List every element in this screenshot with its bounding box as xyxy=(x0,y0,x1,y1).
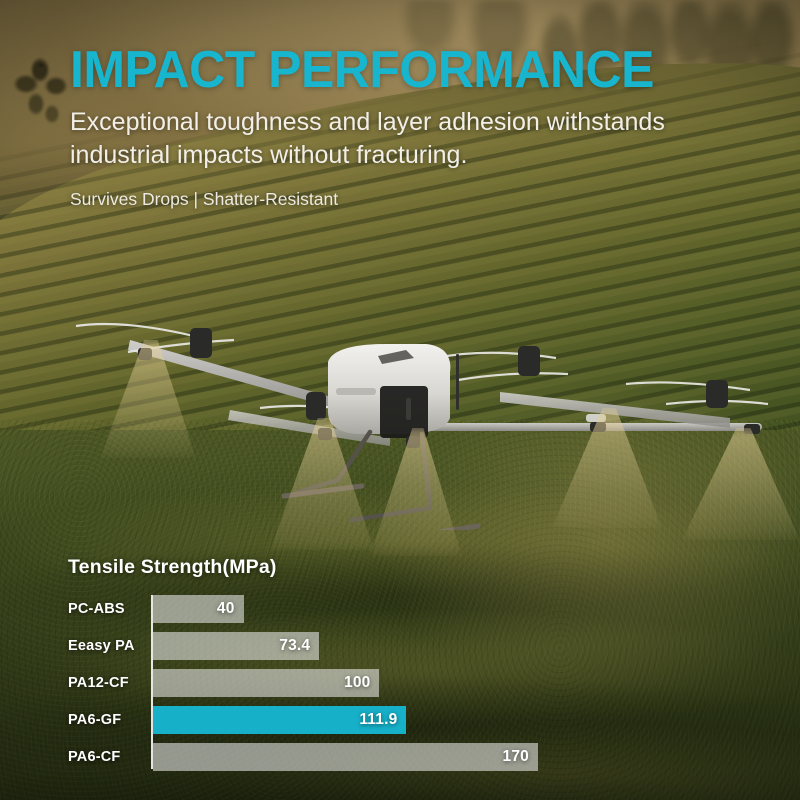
page-tagline: Survives Drops | Shatter-Resistant xyxy=(70,189,720,210)
chart-bar-track: 111.9 xyxy=(153,706,538,734)
chart-bar: 170 xyxy=(153,743,538,771)
chart-bar-track: 73.4 xyxy=(153,632,538,660)
chart-bar-row: PA6-GF111.9 xyxy=(68,706,538,734)
chart-value-label: 40 xyxy=(217,600,244,618)
chart-bar-row: PA12-CF100 xyxy=(68,669,538,697)
page-title: IMPACT PERFORMANCE xyxy=(70,44,694,96)
tensile-strength-chart: Tensile Strength(MPa) PC-ABS40Eeasy PA73… xyxy=(68,556,538,771)
chart-value-label: 73.4 xyxy=(279,637,319,655)
chart-bar: 73.4 xyxy=(153,632,319,660)
chart-bar-row: Eeasy PA73.4 xyxy=(68,632,538,660)
chart-category-label: Eeasy PA xyxy=(68,638,144,654)
chart-bar-highlighted: 111.9 xyxy=(153,706,406,734)
chart-plot-area: PC-ABS40Eeasy PA73.4PA12-CF100PA6-GF111.… xyxy=(68,595,538,771)
chart-bar-row: PC-ABS40 xyxy=(68,595,538,623)
chart-bar-track: 40 xyxy=(153,595,538,623)
chart-category-label: PC-ABS xyxy=(68,601,144,617)
chart-category-label: PA6-CF xyxy=(68,749,144,765)
impact-performance-slide: IMPACT PERFORMANCE Exceptional toughness… xyxy=(0,0,800,800)
chart-title: Tensile Strength(MPa) xyxy=(68,556,538,579)
chart-value-label: 111.9 xyxy=(359,711,406,729)
spray-drone xyxy=(70,300,770,530)
chart-value-label: 100 xyxy=(344,674,379,692)
page-subtitle: Exceptional toughness and layer adhesion… xyxy=(70,106,710,171)
chart-category-label: PA12-CF xyxy=(68,675,144,691)
chart-bar-track: 170 xyxy=(153,743,538,771)
header-block: IMPACT PERFORMANCE Exceptional toughness… xyxy=(70,44,720,210)
chart-value-label: 170 xyxy=(503,748,538,766)
chart-bar-track: 100 xyxy=(153,669,538,697)
chart-bar: 40 xyxy=(153,595,244,623)
chart-category-label: PA6-GF xyxy=(68,712,144,728)
chart-bar: 100 xyxy=(153,669,379,697)
chart-bar-row: PA6-CF170 xyxy=(68,743,538,771)
